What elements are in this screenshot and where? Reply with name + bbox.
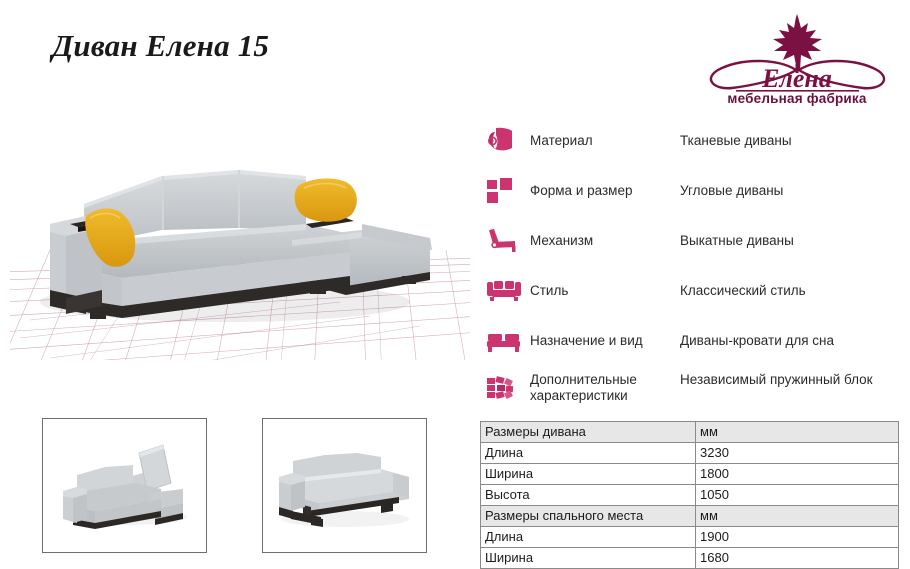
table-row-header: Размеры спального места мм (481, 506, 899, 527)
accent-pillow-right (295, 179, 357, 222)
brand-logo: Елена мебельная фабрика (700, 8, 895, 106)
bed-icon (486, 321, 530, 361)
feature-row-purpose: Назначение и вид Диваны-кровати для сна (486, 316, 896, 366)
feature-row-material: Материал Тканевые диваны (486, 116, 896, 166)
feature-value: Выкатные диваны (680, 233, 794, 249)
table-cell: Длина (481, 527, 696, 548)
table-row: Высота 1050 (481, 485, 899, 506)
thumbnail-unfolded[interactable] (262, 418, 427, 553)
table-cell: Ширина (481, 548, 696, 569)
feature-value: Независимый пружинный блок (680, 372, 873, 388)
dimensions-table: Размеры дивана мм Длина 3230 Ширина 1800… (480, 421, 899, 569)
thumbnail-gallery (42, 418, 442, 558)
table-row: Ширина 1800 (481, 464, 899, 485)
product-hero-image (10, 120, 470, 360)
logo-tagline: мебельная фабрика (727, 91, 866, 106)
table-cell: Ширина (481, 464, 696, 485)
feature-row-style: Стиль Классический стиль (486, 266, 896, 316)
logo-brand-text: Елена (761, 64, 832, 93)
product-sheet: Диван Елена 15 Елена мебельная фабрика (0, 0, 910, 569)
table-cell: 1800 (696, 464, 899, 485)
feature-value: Классический стиль (680, 283, 806, 299)
feature-value: Тканевые диваны (680, 133, 792, 149)
feature-label: Форма и размер (530, 183, 680, 199)
feature-row-mechanism: Механизм Выкатные диваны (486, 216, 896, 266)
swatch-fan-icon (486, 372, 530, 414)
feature-row-extra: Дополнительные характеристики Независимы… (486, 366, 896, 428)
table-cell: 3230 (696, 443, 899, 464)
feature-row-shape: Форма и размер Угловые диваны (486, 166, 896, 216)
feature-value: Диваны-кровати для сна (680, 333, 834, 349)
table-cell: Высота (481, 485, 696, 506)
table-cell: мм (696, 506, 899, 527)
table-cell: 1900 (696, 527, 899, 548)
feature-label: Материал (530, 133, 680, 149)
table-row: Длина 3230 (481, 443, 899, 464)
table-cell: Размеры спального места (481, 506, 696, 527)
table-cell: 1680 (696, 548, 899, 569)
feature-value: Угловые диваны (680, 183, 783, 199)
table-cell: мм (696, 422, 899, 443)
feature-label: Назначение и вид (530, 333, 680, 349)
feature-list: Материал Тканевые диваны Форма и размер … (486, 116, 896, 428)
feature-label: Дополнительные характеристики (530, 372, 680, 404)
fabric-roll-icon (486, 121, 530, 161)
feature-label: Механизм (530, 233, 680, 249)
table-row-header: Размеры дивана мм (481, 422, 899, 443)
mechanism-recliner-icon (486, 221, 530, 261)
table-row: Длина 1900 (481, 527, 899, 548)
thumbnail-storage[interactable] (42, 418, 207, 553)
table-row: Ширина 1680 (481, 548, 899, 569)
shape-squares-icon (486, 171, 530, 211)
feature-label: Стиль (530, 283, 680, 299)
table-cell: 1050 (696, 485, 899, 506)
table-cell: Длина (481, 443, 696, 464)
sofa-icon (486, 271, 530, 311)
table-cell: Размеры дивана (481, 422, 696, 443)
page-title: Диван Елена 15 (52, 28, 269, 64)
